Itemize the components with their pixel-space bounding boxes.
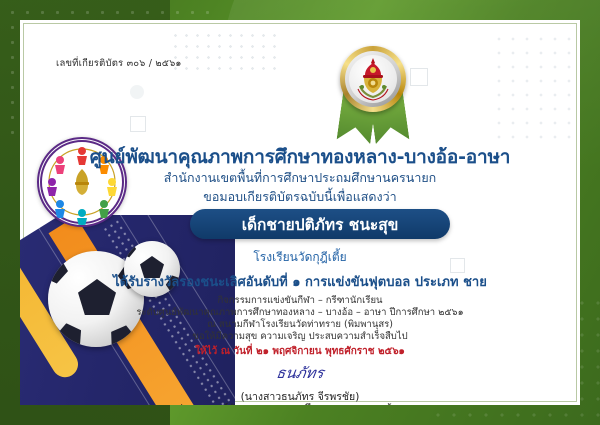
certificate-number: เลขที่เกียรติบัตร ๓๐๖ / ๒๕๖๑ — [56, 56, 182, 71]
medal-middle-ring — [345, 51, 401, 107]
medal-outer-ring — [340, 46, 406, 112]
office-subtitle: สำนักงานเขตพื้นที่การศึกษาประถมศึกษานครน… — [20, 168, 580, 188]
recipient-school: โรงเรียนวัดกุฎีเตี้ย — [20, 248, 580, 267]
signer-role: ประธานศูนย์พัฒนาคุณภาพการศึกษาทองหลาง-บา… — [20, 401, 580, 405]
handwritten-signature: ธนภัทร — [20, 361, 580, 385]
certificate-page: เลขที่เกียรติบัตร ๓๐๖ / ๒๕๖๑ ศูนย์พัฒนาค… — [0, 0, 600, 425]
award-line: ได้รับรางวัลรองชนะเลิศอันดับที่ ๑ การแข่… — [20, 271, 580, 292]
thai-royal-emblem-icon — [352, 56, 394, 102]
issue-date-line: ให้ไว้ ณ วันที่ ๒๑ พฤศจิกายน พุทธศักราช … — [20, 344, 580, 359]
watermark-dots-top — [170, 30, 280, 75]
medal-inner-disc — [349, 55, 397, 103]
recipient-name: เด็กชายปติภัทร ชนะสุข — [242, 212, 399, 237]
certificate-card: เลขที่เกียรติบัตร ๓๐๖ / ๒๕๖๑ ศูนย์พัฒนาค… — [20, 20, 580, 405]
gold-medal-seal — [332, 42, 414, 142]
watermark-dots-right — [492, 32, 572, 142]
detail-line-4: ขอให้มีความสุข ความเจริญ ประสบความสำเร็จ… — [20, 329, 580, 344]
watermark-circle-1 — [130, 85, 144, 99]
watermark-square-2 — [130, 116, 146, 132]
grant-statement: ขอมอบเกียรติบัตรฉบับนี้เพื่อแสดงว่า — [20, 187, 580, 207]
recipient-name-banner: เด็กชายปติภัทร ชนะสุข — [190, 209, 450, 239]
